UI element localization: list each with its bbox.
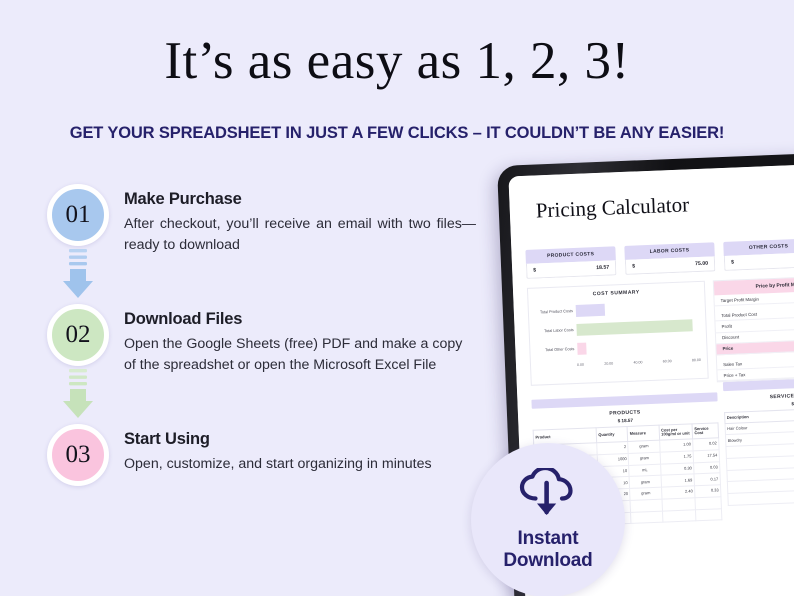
step-item-02: 02 Download Files Open the Google Sheets… bbox=[32, 304, 502, 424]
cloud-download-icon bbox=[517, 468, 579, 524]
price-row-label: Discount bbox=[722, 331, 794, 340]
chart-bar-label: Total Product Costs bbox=[531, 309, 576, 316]
step-number-badge-03: 03 bbox=[47, 424, 109, 486]
step-desc-01: After checkout, you’ll receive an email … bbox=[124, 214, 476, 256]
cell-service bbox=[695, 497, 721, 510]
cell-service: 0.33 bbox=[695, 485, 721, 498]
service-costs-panel: SERVICE COSTS $ Description Time (mins) bbox=[723, 377, 794, 506]
price-by-profit-margin-panel: Price by Profit Margin (%) Target Profit… bbox=[713, 275, 794, 383]
spreadsheet-title: Pricing Calculator bbox=[535, 192, 689, 223]
cost-summary-boxes: PRODUCT COSTS $ 18.57 LABOR COSTS $ 75.0… bbox=[525, 233, 794, 279]
cost-box-product: PRODUCT COSTS $ 18.57 bbox=[525, 246, 616, 279]
step-number-02: 02 bbox=[66, 321, 91, 349]
down-arrow-icon-01 bbox=[61, 248, 95, 304]
price-row-label: Profit bbox=[722, 320, 794, 329]
chart-bar bbox=[576, 304, 605, 317]
step-badge-column-02: 02 bbox=[32, 304, 124, 424]
page-subtitle: GET YOUR SPREADSHEET IN JUST A FEW CLICK… bbox=[0, 124, 794, 143]
chart-title: COST SUMMARY bbox=[528, 282, 704, 300]
cell-service bbox=[696, 508, 722, 521]
instant-download-line2: Download bbox=[503, 550, 592, 572]
axis-tick: 60.00 bbox=[663, 359, 672, 363]
instant-download-badge[interactable]: Instant Download bbox=[471, 443, 625, 596]
cost-box-value-row: $ 18.57 bbox=[526, 260, 617, 279]
col-quantity: Quantity bbox=[596, 426, 628, 442]
page-title: It’s as easy as 1, 2, 3! bbox=[0, 32, 794, 91]
step-text-01: Make Purchase After checkout, you’ll rec… bbox=[124, 184, 502, 256]
cell-service: 17.54 bbox=[693, 450, 719, 463]
chart-bar bbox=[577, 343, 587, 355]
step-text-02: Download Files Open the Google Sheets (f… bbox=[124, 304, 502, 376]
currency-symbol: $ bbox=[533, 268, 536, 274]
axis-tick: 0.00 bbox=[577, 363, 584, 367]
chart-bar-row: Total Product Costs bbox=[529, 300, 705, 319]
step-desc-02: Open the Google Sheets (free) PDF and ma… bbox=[124, 334, 464, 376]
col-measure: Measure bbox=[627, 425, 659, 441]
cost-box-value-row: $ 6.00 bbox=[724, 252, 794, 271]
price-row-label: Price + Tax bbox=[723, 369, 794, 378]
step-item-03: 03 Start Using Open, customize, and star… bbox=[32, 424, 502, 486]
step-title-02: Download Files bbox=[124, 310, 502, 329]
poster-canvas: It’s as easy as 1, 2, 3! GET YOUR SPREAD… bbox=[0, 0, 794, 596]
price-row-label: Price bbox=[722, 343, 794, 352]
cell-service: 0.03 bbox=[694, 461, 720, 474]
cost-box-other: OTHER COSTS $ 6.00 bbox=[723, 238, 794, 271]
cell-measure bbox=[631, 511, 663, 524]
chart-x-axis: 0.00 20.00 40.00 60.00 80.00 bbox=[577, 358, 701, 367]
step-title-01: Make Purchase bbox=[124, 190, 502, 209]
instant-download-line1: Instant bbox=[518, 528, 579, 550]
cell-cost bbox=[662, 509, 696, 522]
cost-summary-chart: COST SUMMARY Total Product Costs Total L… bbox=[527, 281, 709, 386]
steps-list: 01 Make Purchase After checkout, you’ll … bbox=[32, 184, 502, 486]
currency-symbol: $ bbox=[632, 264, 635, 270]
cost-box-labor: LABOR COSTS $ 75.00 bbox=[624, 242, 715, 275]
step-number-badge-02: 02 bbox=[47, 304, 109, 366]
chart-bar-label: Total Labor Costs bbox=[532, 328, 577, 335]
step-badge-column-01: 01 bbox=[32, 184, 124, 304]
step-number-03: 03 bbox=[66, 441, 91, 469]
cell-service: 0.02 bbox=[693, 438, 719, 451]
price-row-label: Sales Tax bbox=[723, 358, 794, 367]
chart-bar-row: Total Labor Costs bbox=[529, 319, 705, 338]
step-number-01: 01 bbox=[66, 201, 91, 229]
chart-bar bbox=[576, 319, 693, 336]
axis-tick: 20.00 bbox=[604, 361, 613, 365]
axis-tick: 40.00 bbox=[633, 360, 642, 364]
step-item-01: 01 Make Purchase After checkout, you’ll … bbox=[32, 184, 502, 304]
axis-tick: 80.00 bbox=[692, 358, 701, 362]
currency-symbol: $ bbox=[618, 418, 621, 423]
chart-bar-label: Total Other Costs bbox=[532, 347, 577, 354]
target-margin-label: Target Profit Margin bbox=[720, 293, 794, 302]
cell-service: 0.17 bbox=[694, 473, 720, 486]
step-number-badge-01: 01 bbox=[47, 184, 109, 246]
price-row-label: Total Product Cost bbox=[721, 309, 794, 318]
products-total-value: 18.57 bbox=[621, 418, 633, 423]
down-arrow-icon-02 bbox=[61, 368, 95, 424]
cell-description bbox=[728, 491, 794, 506]
col-cost-per-unit: Cost per 100g/ml or unit bbox=[659, 424, 693, 440]
currency-symbol: $ bbox=[731, 260, 734, 266]
cost-box-amount: 18.57 bbox=[596, 265, 609, 272]
chart-bar-row: Total Other Costs bbox=[530, 338, 706, 357]
step-badge-column-03: 03 bbox=[32, 424, 124, 486]
step-desc-03: Open, customize, and start organizing in… bbox=[124, 454, 454, 475]
col-service-cost: Service Cost bbox=[692, 423, 719, 439]
cost-box-value-row: $ 75.00 bbox=[625, 256, 716, 275]
step-title-03: Start Using bbox=[124, 430, 502, 449]
service-costs-table: Description Time (mins) Hair Colour Blow… bbox=[724, 407, 794, 507]
cost-box-amount: 75.00 bbox=[695, 261, 708, 268]
step-text-03: Start Using Open, customize, and start o… bbox=[124, 424, 502, 475]
